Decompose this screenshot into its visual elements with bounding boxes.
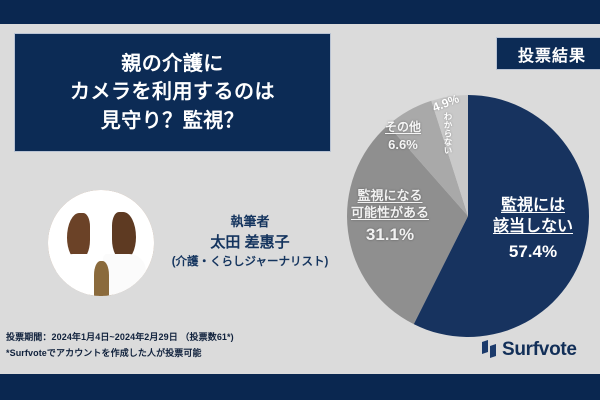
result-badge: 投票結果 (496, 37, 600, 70)
surfvote-wordmark: Surfvote (502, 339, 577, 361)
poll-period-note: 投票期間：2024年1月4日~2024年2月29日 （投票数61*) (6, 330, 234, 346)
avatar-inner-top (94, 261, 110, 296)
top-accent-band (0, 0, 600, 24)
author-title: (介護・くらしジャーナリスト) (160, 254, 340, 271)
author-block: 執筆者 太田 差惠子 (介護・くらしジャーナリスト) (160, 212, 340, 271)
author-avatar (48, 190, 154, 296)
poll-question-box: 親の介護に カメラを利用するのは 見守り？監視？ (14, 33, 331, 152)
poll-question-line-3: 見守り？監視？ (101, 107, 245, 135)
pie-svg (346, 94, 590, 338)
poll-pie-chart (346, 94, 590, 338)
poll-result-infographic: 親の介護に カメラを利用するのは 見守り？監視？ 投票結果 執筆者 太田 差惠子… (0, 0, 600, 400)
author-role: 執筆者 (160, 212, 340, 232)
poll-question-line-2: カメラを利用するのは (70, 78, 275, 106)
bottom-accent-band (0, 374, 600, 400)
avatar-hair-right (112, 212, 136, 260)
poll-notes: 投票期間：2024年1月4日~2024年2月29日 （投票数61*) *Surf… (6, 330, 234, 362)
poll-question-line-1: 親の介護に (121, 50, 224, 78)
author-name: 太田 差惠子 (160, 232, 340, 255)
avatar-hair-left (67, 213, 90, 260)
surfvote-mark-icon (481, 339, 497, 361)
surfvote-logo: Surfvote (481, 339, 577, 361)
avatar-jacket-left (56, 254, 98, 296)
avatar-jacket-right (103, 254, 145, 296)
poll-disclaimer-note: *Surfvoteでアカウントを作成した人が投票可能 (6, 346, 234, 362)
result-badge-label: 投票結果 (518, 42, 586, 66)
